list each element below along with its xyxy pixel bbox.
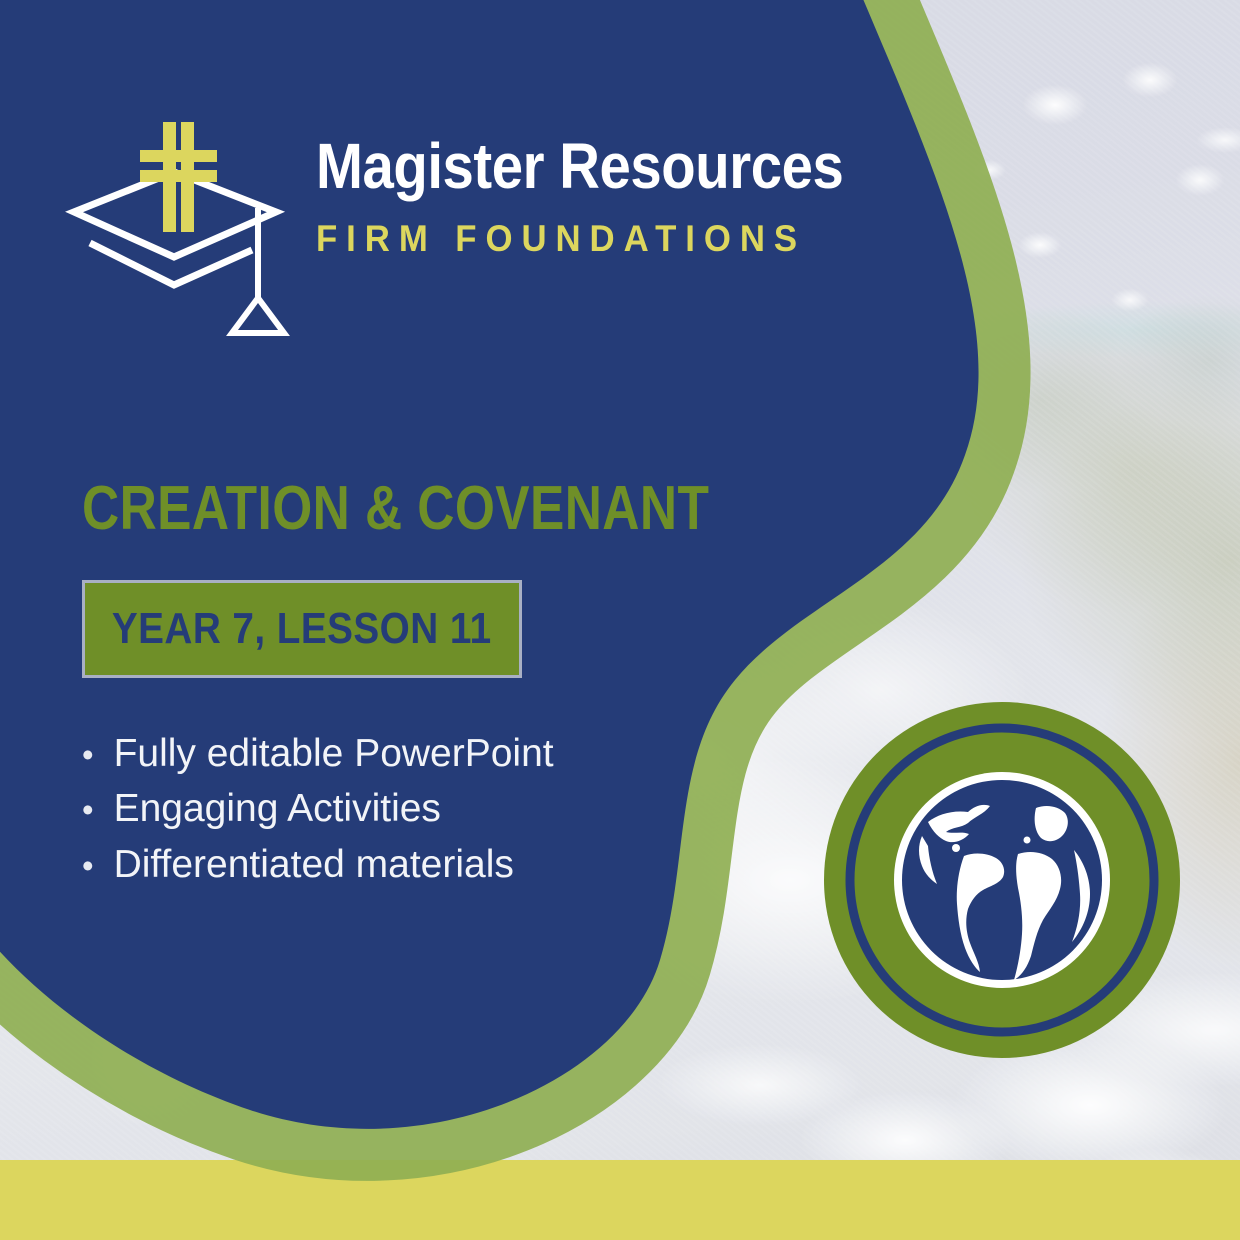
lesson-badge: YEAR 7, LESSON 11 [82, 580, 522, 678]
lesson-badge-label: YEAR 7, LESSON 11 [112, 604, 492, 654]
bullet-icon: • [82, 849, 94, 882]
bullet-icon: • [82, 793, 94, 826]
list-item: • Engaging Activities [82, 781, 802, 836]
brand-wordmark: Magister Resources FIRM FOUNDATIONS [316, 112, 915, 257]
list-item: • Fully editable PowerPoint [82, 726, 802, 781]
globe-earth-icon [822, 700, 1182, 1060]
list-item-label: Engaging Activities [114, 781, 441, 836]
list-item-label: Fully editable PowerPoint [114, 726, 554, 781]
brand-name: Magister Resources [316, 134, 843, 198]
bullet-icon: • [82, 738, 94, 771]
main-content: CREATION & COVENANT YEAR 7, LESSON 11 • … [82, 478, 802, 892]
brand-logo: Magister Resources FIRM FOUNDATIONS [62, 112, 915, 342]
cross-icon [140, 122, 217, 232]
graduation-cap-with-cross-icon [62, 112, 294, 342]
brand-tagline: FIRM FOUNDATIONS [316, 220, 879, 257]
page-title: CREATION & COVENANT [82, 478, 680, 540]
list-item: • Differentiated materials [82, 837, 802, 892]
poster-canvas: Magister Resources FIRM FOUNDATIONS CREA… [0, 0, 1240, 1240]
feature-list: • Fully editable PowerPoint • Engaging A… [82, 726, 802, 892]
list-item-label: Differentiated materials [114, 837, 514, 892]
